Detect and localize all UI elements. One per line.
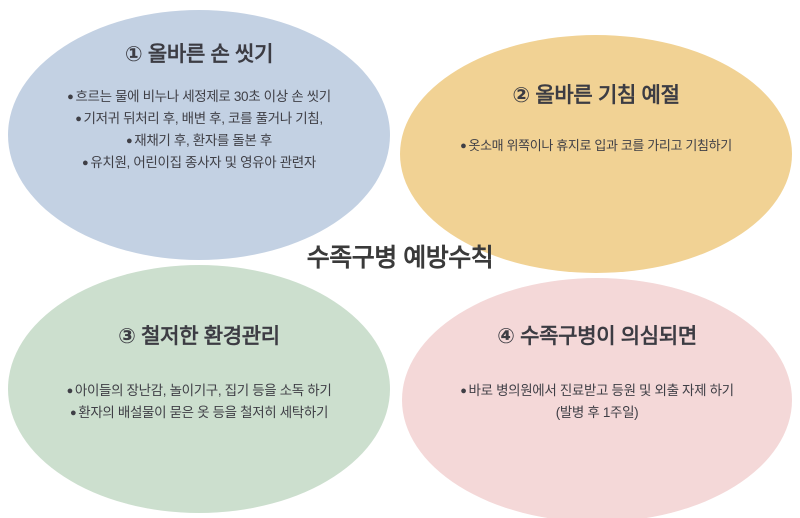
- card-hand-washing: ① 올바른 손 씻기 ●흐르는 물에 비누나 세정제로 30초 이상 손 씻기 …: [8, 10, 390, 260]
- card-title-hand-washing: ① 올바른 손 씻기: [125, 38, 273, 68]
- bullet-list-suspected-case: ●바로 병의원에서 진료받고 등원 및 외출 자제 하기 (발병 후 1주일): [402, 380, 792, 424]
- list-item-text: 바로 병의원에서 진료받고 등원 및 외출 자제 하기: [469, 383, 734, 398]
- list-item: ●옷소매 위쪽이나 휴지로 입과 코를 가리고 기침하기: [400, 135, 792, 156]
- list-item: ●유치원, 어린이집 종사자 및 영유아 관련자: [8, 152, 390, 174]
- bullet-list-cough-etiquette: ●옷소매 위쪽이나 휴지로 입과 코를 가리고 기침하기: [400, 135, 792, 156]
- card-environment-management: ③ 철저한 환경관리 ●아이들의 장난감, 놀이기구, 집기 등을 소독 하기 …: [8, 265, 390, 513]
- bullet-dot-icon: ●: [70, 407, 76, 419]
- list-item-text: 흐르는 물에 비누나 세정제로 30초 이상 손 씻기: [75, 89, 330, 104]
- card-suspected-case: ④ 수족구병이 의심되면 ●바로 병의원에서 진료받고 등원 및 외출 자제 하…: [402, 278, 792, 518]
- bullet-list-environment-management: ●아이들의 장난감, 놀이기구, 집기 등을 소독 하기 ●환자의 배설물이 묻…: [8, 380, 390, 424]
- bullet-dot-icon: ●: [67, 91, 73, 103]
- card-cough-etiquette: ② 올바른 기침 예절 ●옷소매 위쪽이나 휴지로 입과 코를 가리고 기침하기: [400, 35, 792, 273]
- list-item: (발병 후 1주일): [402, 402, 792, 424]
- list-item: ●기저귀 뒤처리 후, 배변 후, 코를 풀거나 기침,: [8, 108, 390, 130]
- list-item-text: 환자의 배설물이 묻은 옷 등을 철저히 세탁하기: [78, 405, 328, 420]
- list-item-text: 기저귀 뒤처리 후, 배변 후, 코를 풀거나 기침,: [84, 111, 323, 126]
- list-item-text: 아이들의 장난감, 놀이기구, 집기 등을 소독 하기: [75, 383, 332, 398]
- bullet-dot-icon: ●: [126, 135, 132, 147]
- list-item-text: 옷소매 위쪽이나 휴지로 입과 코를 가리고 기침하기: [468, 138, 731, 153]
- bullet-dot-icon: ●: [460, 385, 466, 397]
- list-item: ●흐르는 물에 비누나 세정제로 30초 이상 손 씻기: [8, 86, 390, 108]
- bullet-dot-icon: ●: [82, 157, 88, 169]
- bullet-list-hand-washing: ●흐르는 물에 비누나 세정제로 30초 이상 손 씻기 ●기저귀 뒤처리 후,…: [8, 86, 390, 173]
- list-item-text: 재채기 후, 환자를 돌본 후: [134, 133, 272, 148]
- list-item: ●환자의 배설물이 묻은 옷 등을 철저히 세탁하기: [8, 402, 390, 424]
- bullet-dot-icon: ●: [67, 385, 73, 397]
- card-title-environment-management: ③ 철저한 환경관리: [118, 320, 280, 350]
- list-item: ●재채기 후, 환자를 돌본 후: [8, 130, 390, 152]
- list-item: ●아이들의 장난감, 놀이기구, 집기 등을 소독 하기: [8, 380, 390, 402]
- list-item-text: 유치원, 어린이집 종사자 및 영유아 관련자: [90, 155, 316, 170]
- list-item-text: (발병 후 1주일): [556, 405, 639, 420]
- card-title-suspected-case: ④ 수족구병이 의심되면: [497, 320, 697, 350]
- infographic-poster: ① 올바른 손 씻기 ●흐르는 물에 비누나 세정제로 30초 이상 손 씻기 …: [0, 0, 800, 518]
- card-title-cough-etiquette: ② 올바른 기침 예절: [512, 79, 679, 109]
- bullet-dot-icon: ●: [75, 113, 81, 125]
- bullet-dot-icon: ●: [460, 140, 466, 152]
- list-item: ●바로 병의원에서 진료받고 등원 및 외출 자제 하기: [402, 380, 792, 402]
